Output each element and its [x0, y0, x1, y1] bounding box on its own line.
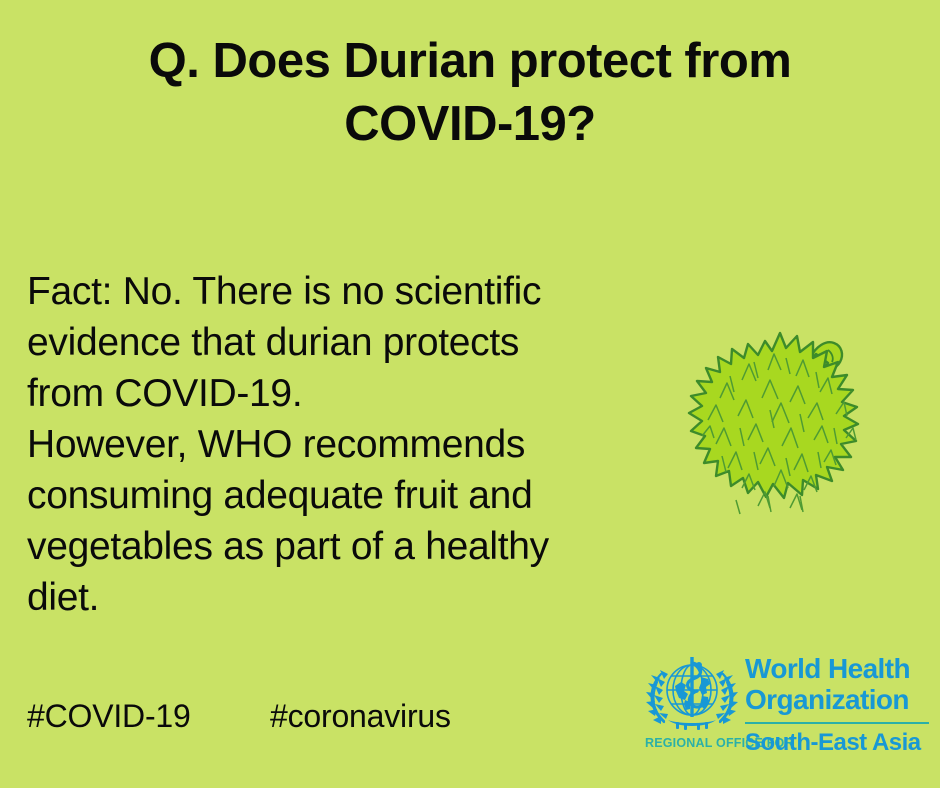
who-name: World Health Organization — [745, 653, 929, 715]
fact-line-7: diet. — [27, 572, 637, 623]
hashtag-row: #COVID-19 #coronavirus — [27, 698, 451, 735]
who-emblem-icon — [644, 652, 740, 732]
fact-line-5: consuming adequate fruit and — [27, 470, 637, 521]
poster-canvas: Q. Does Durian protect from COVID-19? Fa… — [0, 0, 940, 788]
who-wordmark: World Health Organization South-East Asi… — [745, 653, 929, 757]
fact-line-4: However, WHO recommends — [27, 419, 637, 470]
fact-text: Fact: No. There is no scientific evidenc… — [27, 266, 637, 623]
hashtag-covid19: #COVID-19 — [27, 698, 191, 734]
durian-icon — [650, 310, 910, 565]
wreath-base — [668, 720, 716, 730]
hashtag-coronavirus: #coronavirus — [270, 698, 451, 734]
fact-line-2: evidence that durian protects — [27, 317, 637, 368]
page-title-line-1: Q. Does Durian protect from — [0, 30, 940, 93]
page-title-line-2: COVID-19? — [0, 93, 940, 156]
who-name-line-2: Organization — [745, 684, 929, 715]
who-name-line-1: World Health — [745, 653, 929, 684]
fact-line-3: from COVID-19. — [27, 368, 637, 419]
who-divider — [745, 722, 929, 724]
page-title: Q. Does Durian protect from COVID-19? — [0, 30, 940, 155]
who-region-name: South-East Asia — [745, 729, 929, 757]
who-logo: REGIONAL OFFICE FOR World Health Organiz… — [644, 652, 929, 760]
fact-line-1: Fact: No. There is no scientific — [27, 266, 637, 317]
durian-illustration — [650, 310, 910, 565]
fact-line-6: vegetables as part of a healthy — [27, 521, 637, 572]
